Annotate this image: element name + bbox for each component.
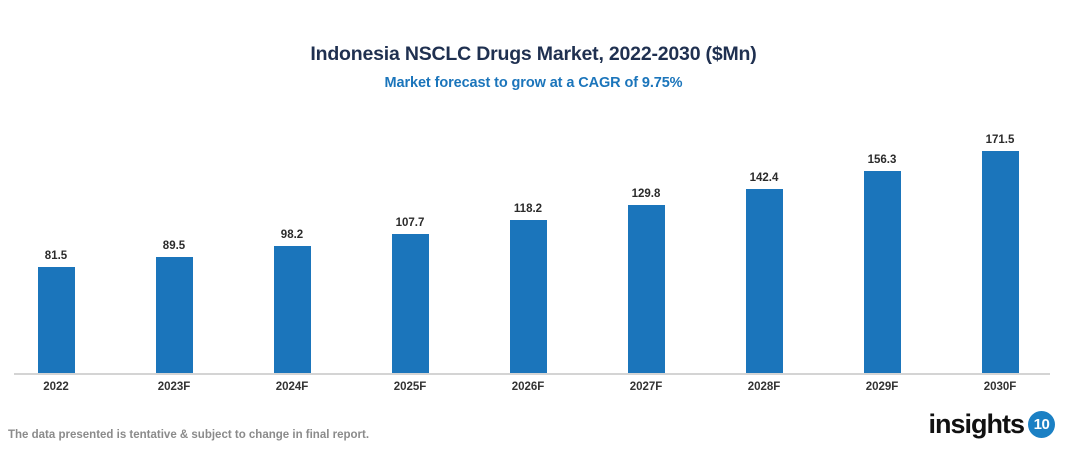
bar[interactable] — [392, 234, 429, 373]
insights10-logo: insights 10 — [928, 409, 1055, 439]
bar-value-label: 129.8 — [587, 188, 705, 201]
bar-value-label: 118.2 — [469, 203, 587, 216]
chart-page: Indonesia NSCLC Drugs Market, 2022-2030 … — [0, 0, 1067, 454]
disclaimer-text: The data presented is tentative & subjec… — [8, 429, 369, 441]
bar-group: 81.5 — [0, 250, 115, 373]
bar-group: 129.8 — [587, 188, 705, 373]
x-axis-tick-label: 2028F — [705, 381, 823, 393]
bar[interactable] — [510, 220, 547, 373]
bar-group: 171.5 — [941, 134, 1059, 373]
bar[interactable] — [156, 257, 193, 373]
bar-group: 107.7 — [351, 217, 469, 373]
x-axis-tick-label: 2023F — [115, 381, 233, 393]
bar[interactable] — [864, 171, 901, 373]
bar-group: 156.3 — [823, 154, 941, 373]
bar-value-label: 107.7 — [351, 217, 469, 230]
x-axis-tick-label: 2022 — [0, 381, 115, 393]
bar-group: 142.4 — [705, 172, 823, 373]
x-axis-tick-label: 2029F — [823, 381, 941, 393]
x-axis-tick-label: 2024F — [233, 381, 351, 393]
bar[interactable] — [38, 267, 75, 373]
bar-group: 89.5 — [115, 240, 233, 373]
x-axis-tick-label: 2030F — [941, 381, 1059, 393]
bar-value-label: 98.2 — [233, 229, 351, 242]
bar-value-label: 89.5 — [115, 240, 233, 253]
brand-badge-icon: 10 — [1028, 411, 1055, 438]
bar-group: 98.2 — [233, 229, 351, 373]
x-axis-tick-label: 2026F — [469, 381, 587, 393]
bar-value-label: 81.5 — [0, 250, 115, 263]
bar-value-label: 156.3 — [823, 154, 941, 167]
bar[interactable] — [746, 189, 783, 373]
x-axis-line — [14, 373, 1050, 375]
brand-wordmark: insights — [928, 409, 1024, 439]
bar-value-label: 171.5 — [941, 134, 1059, 147]
bar-value-label: 142.4 — [705, 172, 823, 185]
bar[interactable] — [982, 151, 1019, 373]
bar-group: 118.2 — [469, 203, 587, 373]
x-axis-tick-label: 2025F — [351, 381, 469, 393]
bar[interactable] — [274, 246, 311, 373]
bar[interactable] — [628, 205, 665, 373]
bar-chart-plot: 81.589.598.2107.7118.2129.8142.4156.3171… — [0, 0, 1067, 454]
x-axis-tick-label: 2027F — [587, 381, 705, 393]
